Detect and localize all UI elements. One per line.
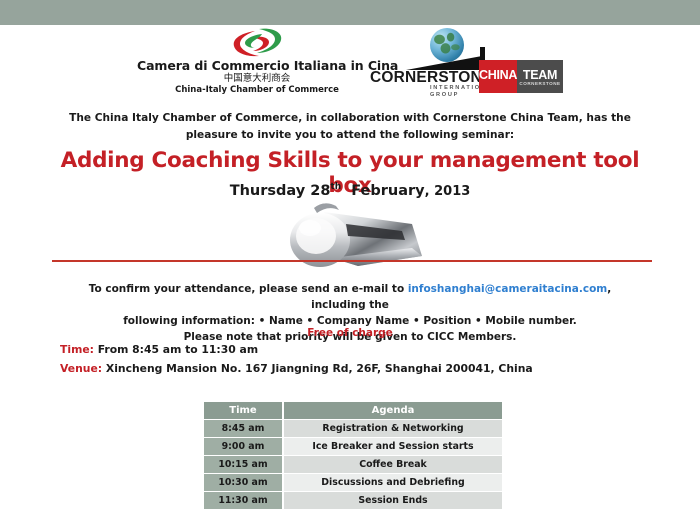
cornerstone-subtitle-line2: GROUP	[430, 92, 497, 99]
agenda-cell-item: Discussions and Debriefing	[284, 474, 502, 491]
confirm-line1-before: To confirm your attendance, please send …	[89, 283, 408, 295]
event-date-month: February	[351, 183, 424, 199]
agenda-cell-item: Session Ends	[284, 492, 502, 509]
divider-rule	[52, 260, 652, 262]
team-sublabel: CORNERSTONE	[517, 81, 563, 86]
free-of-charge-note: Free of charge	[60, 327, 640, 339]
logo-header: Camera di Commercio Italiana in Cina 中国意…	[0, 25, 700, 100]
table-row: 9:00 amIce Breaker and Session starts	[204, 438, 502, 455]
agenda-cell-item: Ice Breaker and Session starts	[284, 438, 502, 455]
table-row: 10:30 amDiscussions and Debriefing	[204, 474, 502, 491]
agenda-cell-time: 9:00 am	[204, 438, 284, 455]
table-row: 10:15 amCoffee Break	[204, 456, 502, 473]
event-time: Time: From 8:45 am to 11:30 am	[60, 343, 258, 356]
event-date-ordinal: th	[330, 182, 341, 192]
agenda-cell-item: Coffee Break	[284, 456, 502, 473]
agenda-cell-time: 11:30 am	[204, 492, 284, 509]
agenda-header-agenda: Agenda	[284, 402, 502, 419]
email-link[interactable]: infoshanghai@cameraitacina.com	[408, 283, 607, 295]
cicc-name-en: China-Italy Chamber of Commerce	[137, 85, 377, 96]
agenda-header-row: Time Agenda	[204, 402, 502, 419]
logo-wedge-shape	[406, 56, 482, 70]
agenda-cell-time: 10:15 am	[204, 456, 284, 473]
venue-value: Xincheng Mansion No. 167 Jiangning Rd, 2…	[102, 362, 533, 375]
venue-label: Venue:	[60, 362, 102, 375]
time-value: From 8:45 am to 11:30 am	[94, 343, 258, 356]
table-row: 11:30 amSession Ends	[204, 492, 502, 509]
event-date: Thursday 28th February, 2013	[40, 182, 660, 199]
whistle-image	[262, 196, 452, 288]
agenda-cell-item: Registration & Networking	[284, 420, 502, 437]
china-label: CHINA	[479, 68, 517, 82]
agenda-table-body: 8:45 amRegistration & Networking9:00 amI…	[204, 420, 502, 509]
cicc-swirl-icon	[229, 27, 285, 57]
event-date-year: , 2013	[425, 184, 471, 199]
agenda-table: Time Agenda 8:45 amRegistration & Networ…	[204, 401, 502, 510]
invitation-page: Camera di Commercio Italiana in Cina 中国意…	[0, 0, 700, 525]
confirm-line2: following information: • Name • Company …	[123, 315, 577, 327]
event-date-day: Thursday 28	[230, 183, 331, 199]
agenda-cell-time: 10:30 am	[204, 474, 284, 491]
team-label: TEAM	[517, 68, 563, 82]
agenda-table-head: Time Agenda	[204, 402, 502, 419]
agenda-cell-time: 8:45 am	[204, 420, 284, 437]
cornerstone-logo: CORNERSTONE INTERNATIONAL GROUP CHINA TE…	[368, 28, 548, 98]
cicc-logo: Camera di Commercio Italiana in Cina 中国意…	[137, 27, 377, 96]
time-label: Time:	[60, 343, 94, 356]
cicc-name-it: Camera di Commercio Italiana in Cina	[137, 59, 377, 73]
event-venue: Venue: Xincheng Mansion No. 167 Jiangnin…	[60, 362, 533, 375]
table-row: 8:45 amRegistration & Networking	[204, 420, 502, 437]
agenda-header-time: Time	[204, 402, 284, 419]
intro-paragraph: The China Italy Chamber of Commerce, in …	[60, 110, 640, 144]
top-band	[0, 0, 700, 25]
cicc-name-cn: 中国意大利商会	[137, 73, 377, 85]
